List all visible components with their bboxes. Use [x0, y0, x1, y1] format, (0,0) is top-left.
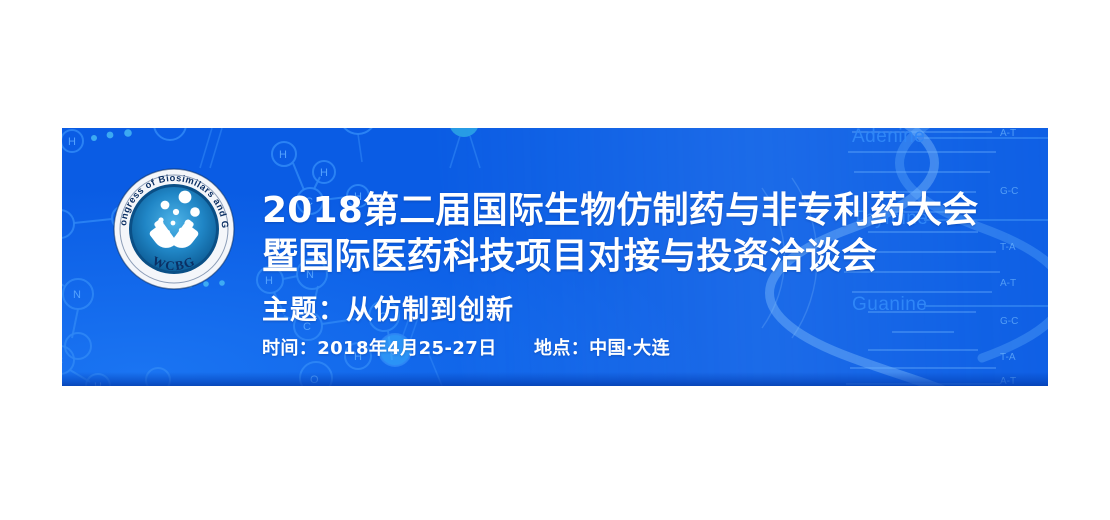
banner-text-block: 2018第二届国际生物仿制药与非专利药大会 暨国际医药科技项目对接与投资洽谈会 …: [262, 188, 1022, 361]
banner-meta-line: 时间：2018年4月25-27日 地点：中国·大连: [262, 337, 1022, 361]
page-canvas: .mol-line { stroke:#2e86f5; stroke-width…: [0, 0, 1110, 520]
banner-theme: 主题：从仿制到创新: [262, 294, 1022, 328]
banner-title-line-2: 暨国际医药科技项目对接与投资洽谈会: [262, 234, 1022, 280]
banner-date: 时间：2018年4月25-27日: [262, 338, 497, 359]
banner-title-line-1: 2018第二届国际生物仿制药与非专利药大会: [262, 188, 1022, 234]
wcbg-congress-logo: World Congress of Biosimilars and Generi…: [113, 168, 235, 290]
dna-label-adenine: Adenine: [852, 128, 972, 148]
banner-location: 地点：中国·大连: [534, 338, 670, 359]
banner-bottom-strip: [62, 372, 1048, 386]
